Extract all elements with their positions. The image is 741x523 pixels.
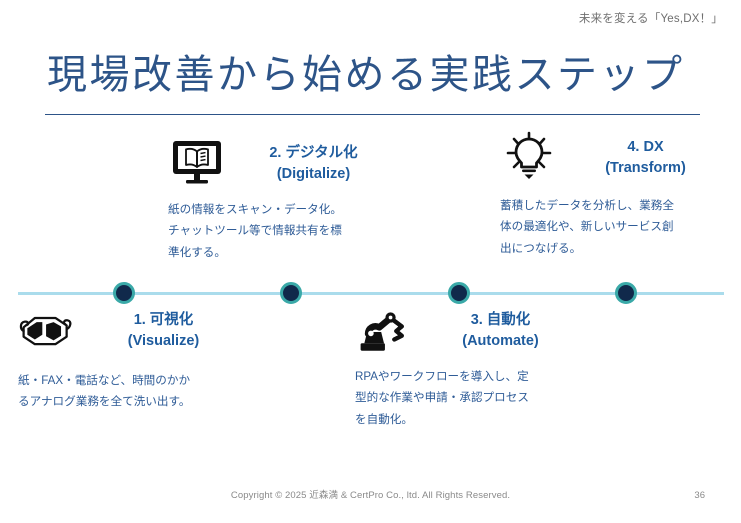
step-2-header: 2. デジタル化 (Digitalize): [168, 137, 393, 187]
title-divider: [45, 114, 700, 115]
step-3-body-line: RPAやワークフローを導入し、定: [355, 366, 580, 387]
step-2-body: 紙の情報をスキャン・データ化。 チャットツール等で情報共有を標 準化する。: [168, 199, 393, 263]
step-3-title-ja: 3. 自動化: [421, 310, 580, 331]
step-4-titles: 4. DX (Transform): [566, 131, 725, 179]
slide-tagline: 未来を変える「Yes,DX！」: [579, 10, 723, 26]
step-2-title-ja: 2. デジタル化: [234, 143, 393, 164]
monitor-book-icon: [168, 137, 226, 187]
robot-arm-icon: [355, 308, 413, 356]
timeline-dot-2: [280, 282, 302, 304]
step-3-body-line: を自動化。: [355, 409, 580, 430]
step-3-titles: 3. 自動化 (Automate): [421, 308, 580, 352]
timeline-dot-3: [448, 282, 470, 304]
step-1-header: 1. 可視化 (Visualize): [18, 308, 243, 356]
lightbulb-icon: [500, 131, 558, 181]
step-1-body: 紙・FAX・電話など、時間のかか るアナログ業務を全て洗い出す。: [18, 370, 243, 413]
step-3-header: 3. 自動化 (Automate): [355, 308, 580, 356]
footer-copyright: Copyright © 2025 近森満 & CertPro Co., ltd.…: [0, 487, 741, 501]
3d-glasses-icon: [18, 308, 76, 356]
step-2-body-line: 紙の情報をスキャン・データ化。: [168, 199, 393, 220]
slide-canvas: 未来を変える「Yes,DX！」 現場改善から始める実践ステップ: [0, 0, 741, 523]
step-card-3: 3. 自動化 (Automate) RPAやワークフローを導入し、定 型的な作業…: [355, 308, 580, 430]
footer-page-number: 36: [694, 490, 705, 501]
timeline-dot-1: [113, 282, 135, 304]
step-2-body-line: 準化する。: [168, 242, 393, 263]
step-card-1: 1. 可視化 (Visualize) 紙・FAX・電話など、時間のかか るアナロ…: [18, 308, 243, 413]
step-card-2: 2. デジタル化 (Digitalize) 紙の情報をスキャン・データ化。 チャ…: [168, 137, 393, 263]
step-4-body-line: 蓄積したデータを分析し、業務全: [500, 195, 725, 216]
step-2-body-line: チャットツール等で情報共有を標: [168, 220, 393, 241]
step-1-body-line: 紙・FAX・電話など、時間のかか: [18, 370, 243, 391]
step-3-title-en: (Automate): [421, 331, 580, 352]
step-1-titles: 1. 可視化 (Visualize): [84, 308, 243, 352]
step-3-body-line: 型的な作業や申請・承認プロセス: [355, 387, 580, 408]
step-4-body-line: 体の最適化や、新しいサービス創: [500, 216, 725, 237]
step-2-titles: 2. デジタル化 (Digitalize): [234, 137, 393, 185]
step-4-title-en: (Transform): [566, 158, 725, 179]
timeline-dot-4: [615, 282, 637, 304]
step-2-title-en: (Digitalize): [234, 164, 393, 185]
step-4-header: 4. DX (Transform): [500, 131, 725, 181]
step-1-title-ja: 1. 可視化: [84, 310, 243, 331]
step-1-title-en: (Visualize): [84, 331, 243, 352]
step-4-body: 蓄積したデータを分析し、業務全 体の最適化や、新しいサービス創 出につなげる。: [500, 195, 725, 259]
step-1-body-line: るアナログ業務を全て洗い出す。: [18, 391, 243, 412]
step-4-title-ja: 4. DX: [566, 137, 725, 158]
step-card-4: 4. DX (Transform) 蓄積したデータを分析し、業務全 体の最適化や…: [500, 131, 725, 259]
page-title: 現場改善から始める実践ステップ: [47, 52, 685, 98]
step-3-body: RPAやワークフローを導入し、定 型的な作業や申請・承認プロセス を自動化。: [355, 366, 580, 430]
step-4-body-line: 出につなげる。: [500, 238, 725, 259]
